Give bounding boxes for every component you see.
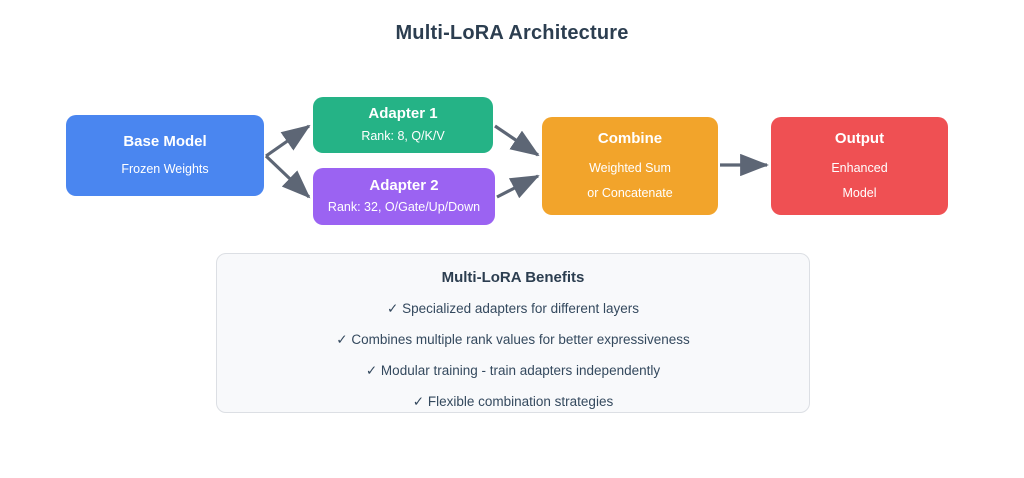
benefits-heading: Multi-LoRA Benefits [217, 269, 809, 286]
node-adapter-1[interactable]: Adapter 1 Rank: 8, Q/K/V [313, 97, 493, 153]
node-adapter-1-subtitle: Rank: 8, Q/K/V [361, 130, 444, 144]
node-adapter-2[interactable]: Adapter 2 Rank: 32, O/Gate/Up/Down [313, 168, 495, 225]
benefit-item: ✓ Flexible combination strategies [217, 395, 809, 410]
node-output-title: Output [835, 131, 884, 148]
edge-adapter2-to-combine [497, 176, 538, 197]
node-adapter-2-title: Adapter 2 [369, 178, 438, 195]
node-base-model-title: Base Model [123, 134, 206, 151]
benefit-item: ✓ Specialized adapters for different lay… [217, 302, 809, 317]
node-combine-subtitle-1: Weighted Sum [589, 162, 671, 176]
node-combine-subtitle-2: or Concatenate [587, 187, 672, 201]
node-base-model[interactable]: Base Model Frozen Weights [66, 115, 264, 196]
benefits-panel: Multi-LoRA Benefits ✓ Specialized adapte… [216, 253, 810, 413]
edge-base-to-adapter1 [266, 126, 309, 156]
node-adapter-1-title: Adapter 1 [368, 106, 437, 123]
edge-adapter1-to-combine [495, 126, 538, 155]
node-output[interactable]: Output Enhanced Model [771, 117, 948, 215]
benefit-item: ✓ Combines multiple rank values for bett… [217, 333, 809, 348]
edge-base-to-adapter2 [266, 156, 309, 197]
benefit-item: ✓ Modular training - train adapters inde… [217, 364, 809, 379]
node-combine[interactable]: Combine Weighted Sum or Concatenate [542, 117, 718, 215]
node-base-model-subtitle: Frozen Weights [121, 163, 208, 177]
node-adapter-2-subtitle: Rank: 32, O/Gate/Up/Down [328, 201, 480, 215]
node-output-subtitle-2: Model [842, 187, 876, 201]
node-combine-title: Combine [598, 131, 662, 148]
node-output-subtitle-1: Enhanced [831, 162, 887, 176]
